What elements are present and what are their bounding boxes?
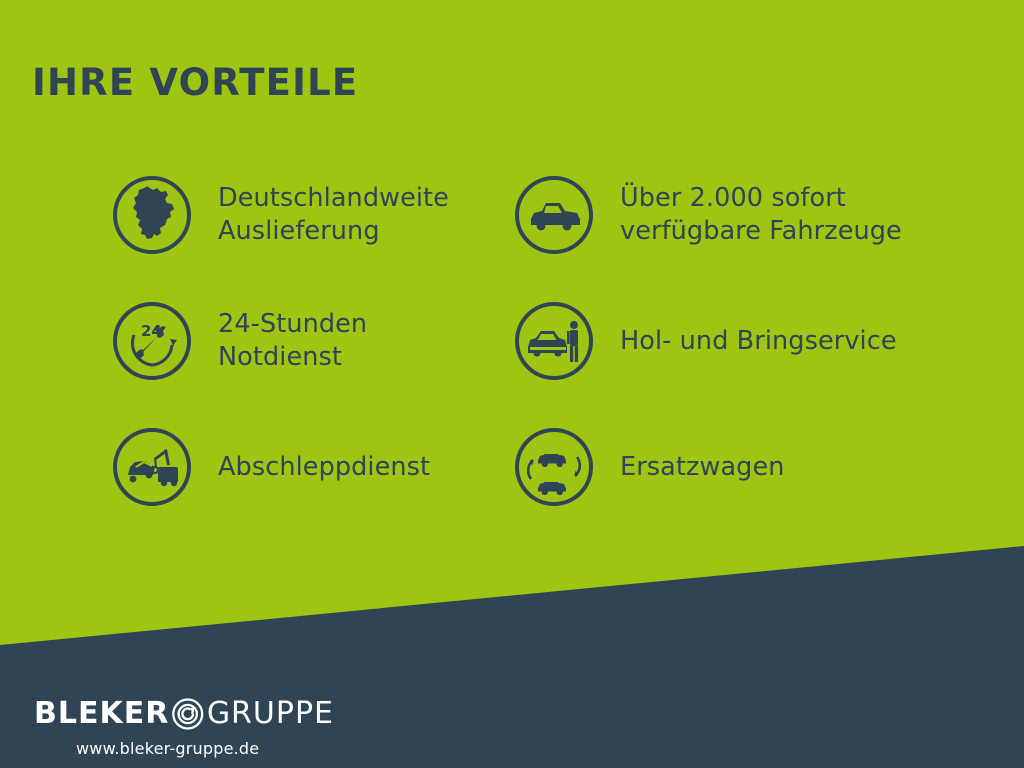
page-title: IHRE VORTEILE [32, 64, 358, 101]
slide-canvas: IHRE VORTEILE Deutschlandweite Ausliefer… [0, 0, 1024, 768]
benefit-item-24-stunden-notdienst[interactable]: 24 24-Stunden Notdienst [112, 278, 512, 404]
benefit-label: Abschleppdienst [218, 451, 430, 484]
car-with-person-icon [514, 301, 594, 381]
website-url[interactable]: www.bleker-gruppe.de [76, 739, 334, 758]
benefit-item-deutschlandweite-auslieferung[interactable]: Deutschlandweite Auslieferung [112, 152, 512, 278]
logo-row: BLEKER GRUPPE [34, 694, 334, 734]
benefit-label: Über 2.000 sofort verfügbare Fahrzeuge [620, 182, 902, 247]
24-hour-wrench-icon: 24 [112, 301, 192, 381]
benefits-column-left: Deutschlandweite Auslieferung 24 [112, 152, 512, 530]
logo-word-gruppe: GRUPPE [207, 699, 334, 729]
benefit-label: 24-Stunden Notdienst [218, 308, 367, 373]
benefit-label: Hol- und Bringservice [620, 325, 897, 358]
benefit-item-ersatzwagen[interactable]: Ersatzwagen [514, 404, 984, 530]
benefit-label: Ersatzwagen [620, 451, 785, 484]
benefit-label: Deutschlandweite Auslieferung [218, 182, 449, 247]
two-cars-exchange-icon [514, 427, 594, 507]
tow-truck-icon [112, 427, 192, 507]
logo-word-bleker: BLEKER [34, 699, 169, 729]
benefit-item-verfuegbare-fahrzeuge[interactable]: Über 2.000 sofort verfügbare Fahrzeuge [514, 152, 984, 278]
benefit-item-abschleppdienst[interactable]: Abschleppdienst [112, 404, 512, 530]
germany-map-icon [112, 175, 192, 255]
footer-logo-block[interactable]: BLEKER GRUPPE www.bleker-gruppe.de [34, 694, 334, 764]
benefit-item-hol-und-bringservice[interactable]: Hol- und Bringservice [514, 278, 984, 404]
spiral-circle-logo-icon [171, 692, 204, 736]
benefits-column-right: Über 2.000 sofort verfügbare Fahrzeuge [514, 152, 984, 530]
car-icon [514, 175, 594, 255]
